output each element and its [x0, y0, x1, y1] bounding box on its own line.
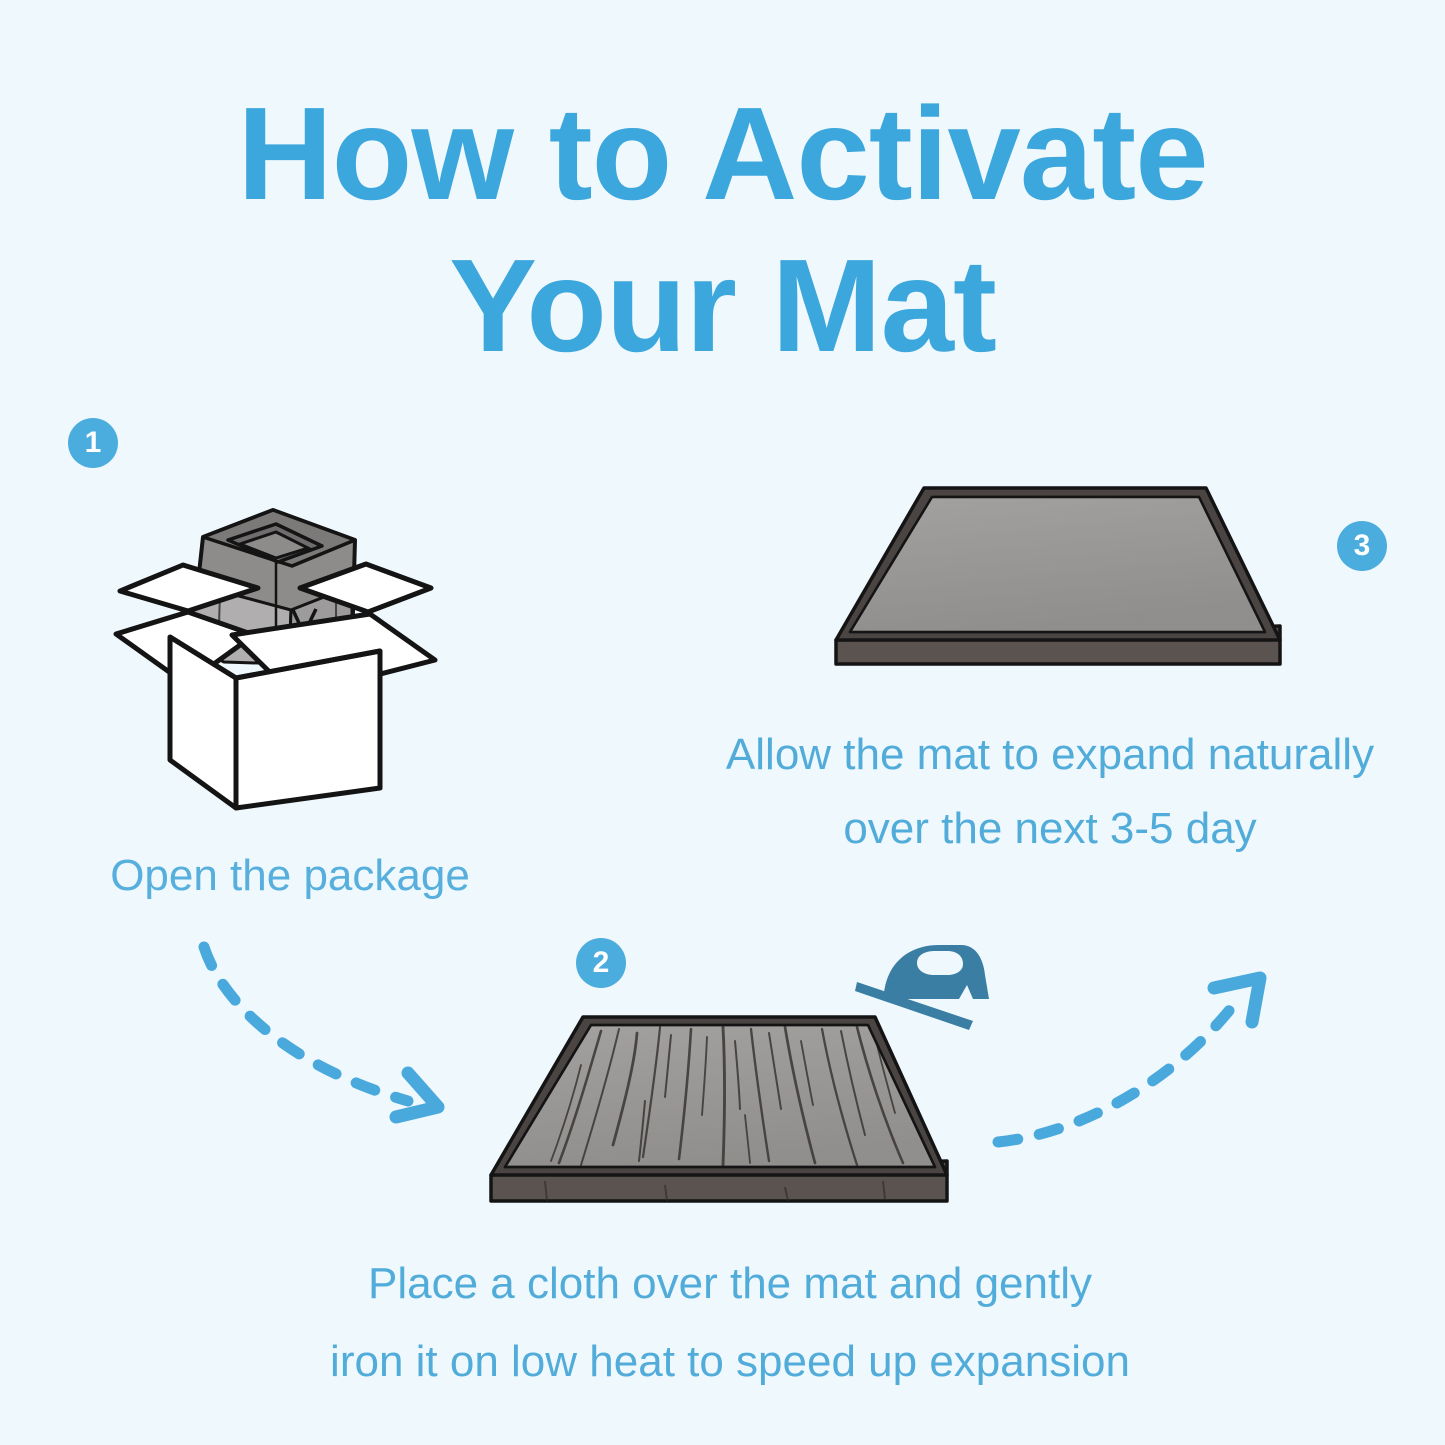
step-1-caption: Open the package: [40, 848, 540, 904]
page-title: How to Activate Your Mat: [0, 78, 1445, 382]
step-2-caption: Place a cloth over the mat and gently ir…: [250, 1245, 1210, 1401]
step-3-caption-line-2: over the next 3-5 day: [843, 804, 1256, 853]
step-badge-3: 3: [1337, 521, 1387, 571]
open-package-illustration: [108, 488, 448, 823]
step-2-caption-line-2: iron it on low heat to speed up expansio…: [330, 1337, 1130, 1386]
wrinkled-mat-illustration: [485, 1005, 955, 1215]
step-badge-1: 1: [68, 418, 118, 468]
expanded-mat-illustration: [828, 468, 1288, 678]
arrow-step1-to-step2: [170, 925, 490, 1145]
step-3-caption-line-1: Allow the mat to expand naturally: [726, 730, 1374, 779]
step-2-caption-line-1: Place a cloth over the mat and gently: [368, 1259, 1092, 1308]
title-line-2: Your Mat: [0, 230, 1445, 382]
step-3-caption: Allow the mat to expand naturally over t…: [670, 718, 1430, 866]
title-line-1: How to Activate: [237, 80, 1207, 227]
infographic-canvas: How to Activate Your Mat 1: [0, 0, 1445, 1445]
step-badge-2: 2: [576, 938, 626, 988]
arrow-step2-to-step3: [980, 960, 1280, 1185]
